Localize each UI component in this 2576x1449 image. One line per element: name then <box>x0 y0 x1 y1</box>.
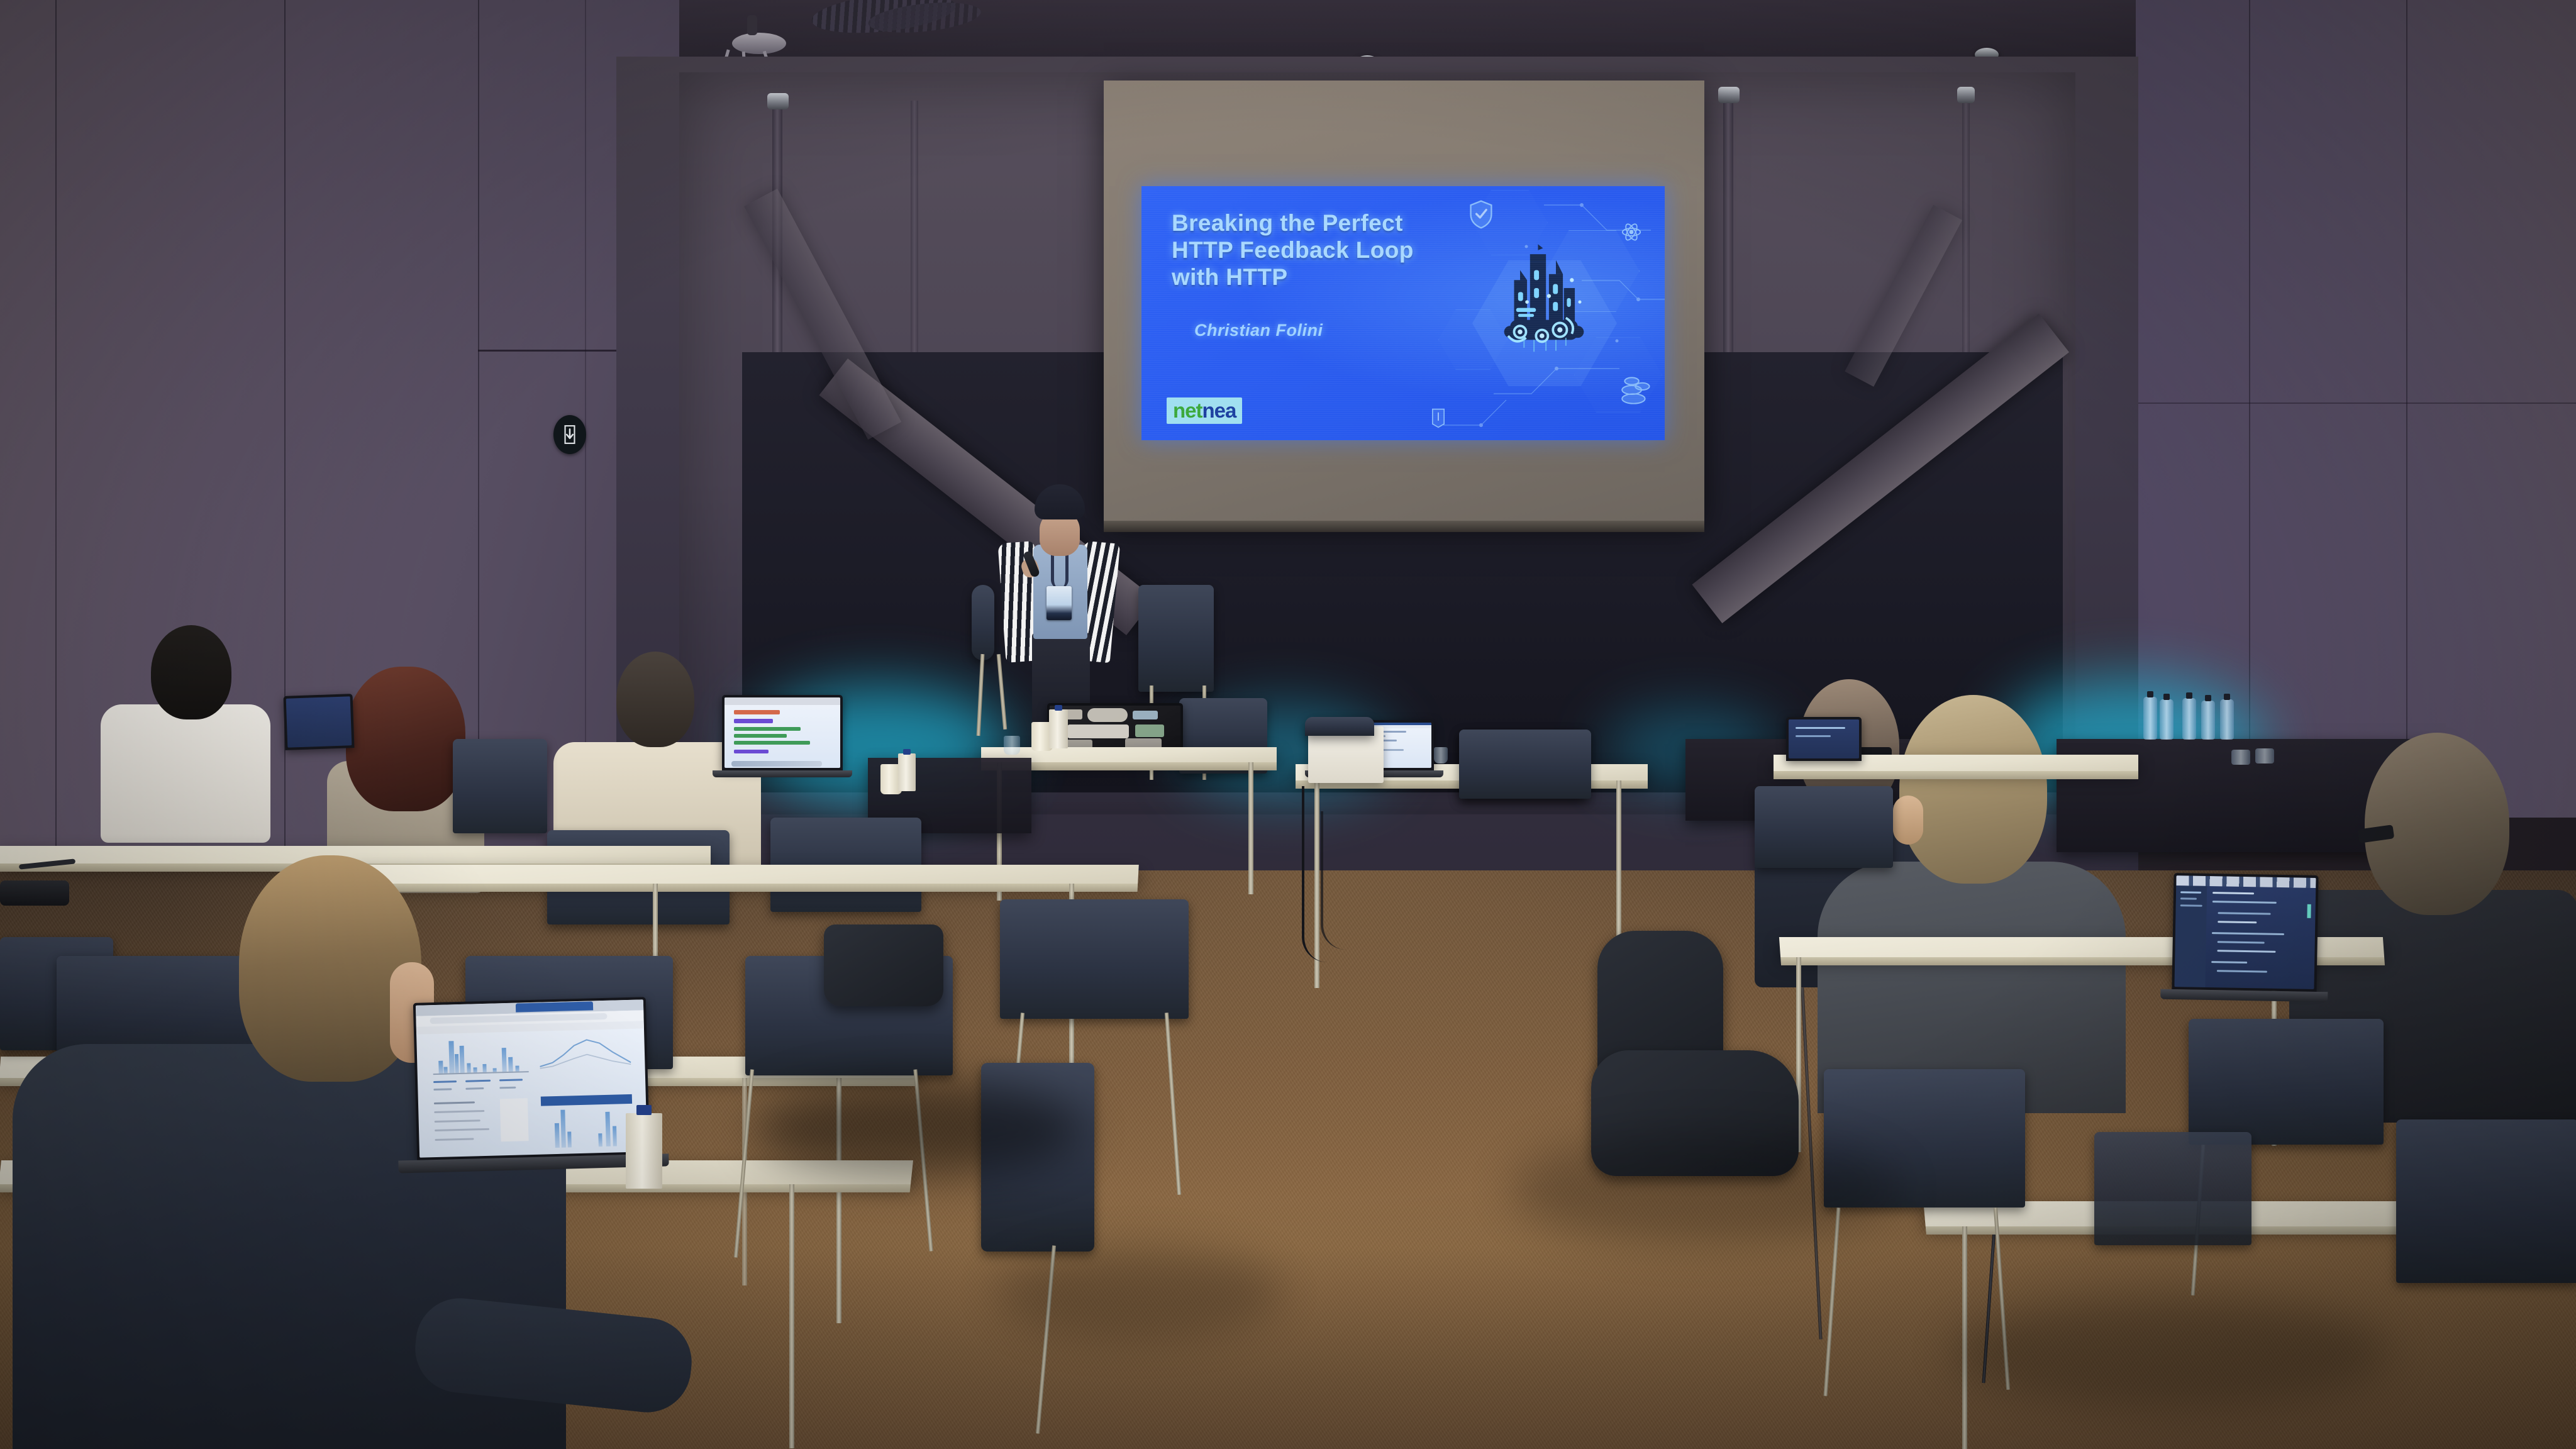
book-icon <box>1430 408 1447 429</box>
chair <box>2396 1119 2576 1283</box>
stage-chair <box>1138 585 1214 692</box>
chair <box>1459 730 1591 799</box>
audience-laptop-editor[interactable] <box>2172 873 2318 992</box>
audience-laptop-dashboard[interactable] <box>413 997 650 1160</box>
conference-room-photo: Breaking the Perfect HTTP Feedback Loop … <box>0 0 2576 1449</box>
projection-screen: Breaking the Perfect HTTP Feedback Loop … <box>1104 80 1704 521</box>
shadow <box>994 1245 1283 1340</box>
netnea-logo: netnea <box>1167 397 1242 424</box>
audience-member <box>101 623 270 830</box>
table-leg <box>789 1184 794 1448</box>
audience-laptop[interactable] <box>722 695 843 770</box>
beverage-carton <box>898 753 916 791</box>
castle-chaos-illustration <box>1494 240 1594 360</box>
water-bottle <box>2143 697 2157 740</box>
shadow <box>1509 1132 1899 1245</box>
power-adapter <box>0 880 69 906</box>
wall-right <box>2136 0 2576 818</box>
water-glass <box>1004 736 1020 755</box>
drinking-glass <box>2231 750 2250 765</box>
chair <box>1000 899 1189 1019</box>
slide-author: Christian Folini <box>1194 321 1323 340</box>
conference-badge <box>1046 586 1072 620</box>
logo-text-part-two: nea <box>1202 399 1236 422</box>
coins-icon <box>1619 372 1655 408</box>
logo-text-part-one: net <box>1173 399 1202 422</box>
water-bottle <box>2220 699 2234 740</box>
flipchart-frame <box>1305 717 1374 736</box>
water-bottle <box>2201 701 2215 740</box>
shadow <box>755 1082 1082 1176</box>
down-arrow-exit-sign-icon <box>553 415 586 454</box>
chair <box>2094 1132 2251 1245</box>
audience-hair <box>346 667 465 811</box>
audience-laptop[interactable] <box>284 694 355 750</box>
floor-cable <box>1321 811 1355 950</box>
audience-head <box>616 652 694 747</box>
table-leg <box>1248 762 1253 894</box>
water-bottle <box>2182 698 2196 740</box>
shadow <box>1950 1296 2390 1409</box>
chair <box>1755 786 1893 868</box>
beverage-carton <box>626 1113 662 1189</box>
mullion-cap <box>1957 87 1975 103</box>
chair <box>453 739 547 833</box>
water-bottle <box>2160 699 2173 740</box>
chair <box>2189 1019 2384 1145</box>
water-glass <box>1434 747 1448 763</box>
laptop-screen <box>286 696 352 748</box>
beanie-hat <box>1035 484 1085 519</box>
laptop-screen <box>724 697 840 768</box>
audience-head <box>2365 733 2509 915</box>
mullion-cap <box>767 93 789 109</box>
presentation-slide: Breaking the Perfect HTTP Feedback Loop … <box>1141 186 1665 440</box>
atom-icon <box>1621 221 1642 243</box>
audience-torso <box>101 704 270 843</box>
audience-ear <box>1893 796 1923 845</box>
beverage-carton <box>1049 709 1068 748</box>
laptop-screen <box>1789 719 1859 758</box>
slide-title: Breaking the Perfect HTTP Feedback Loop … <box>1172 210 1499 291</box>
bar-stool <box>972 585 994 660</box>
audience-laptop[interactable] <box>1786 717 1862 761</box>
drinking-glass <box>2255 748 2274 763</box>
laptop-screen <box>2174 875 2316 989</box>
audience-head <box>1899 695 2047 884</box>
mullion-cap <box>1718 87 1740 103</box>
laptop-base <box>713 770 853 777</box>
audience-head <box>151 625 231 719</box>
laptop-screen <box>416 999 647 1157</box>
backpack <box>824 924 943 1006</box>
